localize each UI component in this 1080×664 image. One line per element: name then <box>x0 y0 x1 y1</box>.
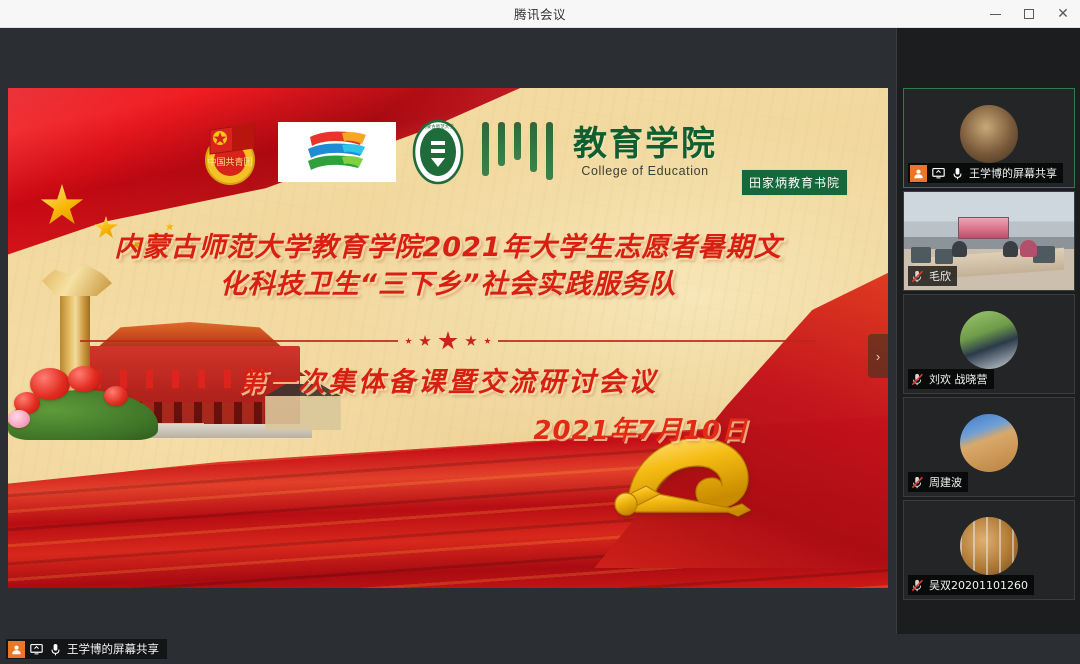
chair <box>911 247 931 263</box>
university-seal-icon: 内蒙古师范大学 <box>410 119 466 185</box>
poster-headline: 内蒙古师范大学教育学院2021年大学生志愿者暑期文 化科技卫生“三下乡”社会实践… <box>8 230 888 303</box>
shared-content-surface: 中国共青团 <box>8 88 888 588</box>
avatar <box>960 517 1018 575</box>
microphone-icon <box>950 166 965 181</box>
participant-tile[interactable]: 吴双20201101260 <box>903 500 1075 600</box>
poster-date: 2021年7月10日 <box>533 410 748 447</box>
mongolian-glyph <box>498 122 505 166</box>
avatar <box>960 414 1018 472</box>
divider-star-icon <box>484 338 491 345</box>
divider-star-icon <box>405 338 412 345</box>
microphone-muted-icon <box>910 475 925 490</box>
panel-collapse-button[interactable]: › <box>868 334 888 378</box>
participant-tile[interactable]: 刘欢 战晓营 <box>903 294 1075 394</box>
divider-rule-left <box>80 340 398 342</box>
peony-flower <box>8 410 30 428</box>
participant-name-badge: 刘欢 战晓营 <box>908 369 994 389</box>
tianjiabing-academy-badge: 田家炳教育书院 <box>741 169 848 196</box>
shared-screen-stage[interactable]: 中国共青团 <box>0 28 896 634</box>
person-silhouette <box>952 241 967 257</box>
participant-name: 王学博的屏幕共享 <box>969 165 1057 181</box>
participant-name: 刘欢 战晓营 <box>929 371 988 387</box>
participant-name-badge: 王学博的屏幕共享 <box>908 163 1063 183</box>
participant-tile[interactable]: 王学博的屏幕共享 <box>903 88 1075 188</box>
person-badge-icon <box>8 641 25 658</box>
participants-panel[interactable]: 王学博的屏幕共享 <box>896 28 1080 634</box>
participant-name: 周建波 <box>929 474 962 490</box>
projected-slide <box>958 217 1009 239</box>
window-controls: ✕ <box>978 0 1080 28</box>
window-title: 腾讯会议 <box>514 4 566 23</box>
sharer-label: 王学博的屏幕共享 <box>67 641 159 657</box>
microphone-muted-icon <box>910 269 925 284</box>
minimize-icon <box>990 14 1001 15</box>
screen-share-icon <box>931 166 946 181</box>
headline-line-1: 内蒙古师范大学教育学院2021年大学生志愿者暑期文 <box>32 230 864 267</box>
person-badge-icon <box>910 165 927 182</box>
screen-share-icon <box>29 642 44 657</box>
participant-name-badge: 吴双20201101260 <box>908 575 1034 595</box>
mongolian-glyph <box>530 122 537 172</box>
college-of-education-logo: 教育学院 College of Education <box>573 127 717 178</box>
rainbow-ribbon-logo-icon <box>278 122 396 182</box>
avatar <box>960 311 1018 369</box>
participant-tile[interactable]: 周建波 <box>903 397 1075 497</box>
window-titlebar: 腾讯会议 ✕ <box>0 0 1080 28</box>
participant-name-badge: 周建波 <box>908 472 968 492</box>
avatar <box>960 105 1018 163</box>
college-name-en: College of Education <box>573 164 717 178</box>
participant-name-badge: 毛欣 <box>908 266 957 286</box>
close-button[interactable]: ✕ <box>1046 0 1080 28</box>
microphone-muted-icon <box>910 372 925 387</box>
maximize-button[interactable] <box>1012 0 1046 28</box>
headline-line-2: 化科技卫生“三下乡”社会实践服务队 <box>32 267 864 304</box>
poster-divider <box>8 331 888 351</box>
mongolian-glyph <box>514 122 521 160</box>
mongolian-script-icon <box>482 122 553 182</box>
sharer-status-pill[interactable]: 王学博的屏幕共享 <box>6 639 167 659</box>
divider-rule-right <box>498 340 816 342</box>
poster-logo-row: 中国共青团 <box>8 104 888 200</box>
divider-star-icon <box>419 335 431 347</box>
college-name-cn: 教育学院 <box>573 127 717 161</box>
svg-text:中国共青团: 中国共青团 <box>207 156 252 168</box>
maximize-icon <box>1024 9 1034 19</box>
mongolian-glyph <box>482 122 489 176</box>
mongolian-glyph <box>546 122 553 180</box>
poster-subheadline: 第一次集体备课暨交流研讨会议 <box>8 360 888 399</box>
bottom-status-bar: 王学博的屏幕共享 <box>0 634 1080 664</box>
person-silhouette <box>1020 240 1037 257</box>
divider-star-icon <box>465 335 477 347</box>
participant-tile[interactable]: 毛欣 <box>903 191 1075 291</box>
chair <box>935 249 954 264</box>
communist-youth-league-emblem-icon: 中国共青团 <box>196 118 264 186</box>
app-window: 腾讯会议 ✕ <box>0 0 1080 664</box>
person-silhouette <box>1003 241 1018 257</box>
close-icon: ✕ <box>1057 7 1069 21</box>
svg-text:内蒙古师范大学: 内蒙古师范大学 <box>422 123 454 130</box>
participant-name: 吴双20201101260 <box>929 577 1028 593</box>
divider-star-icon <box>438 331 458 351</box>
participant-name: 毛欣 <box>929 268 951 284</box>
microphone-muted-icon <box>910 578 925 593</box>
microphone-icon <box>48 642 63 657</box>
minimize-button[interactable] <box>978 0 1012 28</box>
